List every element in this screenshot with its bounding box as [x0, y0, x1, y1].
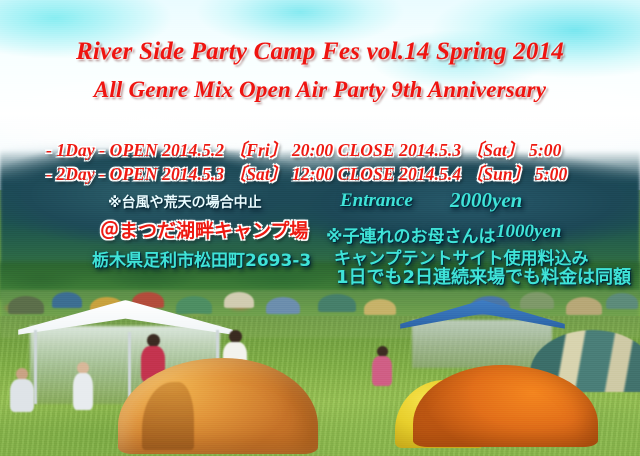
poster-title-line2: All Genre Mix Open Air Party 9th Anniver… — [0, 77, 640, 103]
mother-discount-price: 1000yen — [496, 221, 561, 243]
poster-title-line1: River Side Party Camp Fes vol.14 Spring … — [0, 38, 640, 66]
entrance-label: Entrance — [340, 190, 413, 212]
entrance-price: 2000yen — [450, 188, 522, 213]
schedule-day2: - 2Day - OPEN 2014.5.3 〔Sat〕 12:00 CLOSE… — [46, 161, 567, 186]
schedule-day1: - 1Day - OPEN 2014.5.2 〔Fri〕 20:00 CLOSE… — [46, 137, 561, 162]
cancellation-note: ※台風や荒天の場合中止 — [108, 192, 262, 212]
poster-text-overlay: River Side Party Camp Fes vol.14 Spring … — [0, 0, 640, 456]
event-poster: River Side Party Camp Fes vol.14 Spring … — [0, 0, 640, 456]
same-fee-note: 1日でも2日連続来場でも料金は同額 — [336, 263, 631, 289]
venue-name: ＠まつだ湖畔キャンプ場 — [100, 216, 308, 243]
venue-address: 栃木県足利市松田町2693-3 — [92, 246, 311, 271]
